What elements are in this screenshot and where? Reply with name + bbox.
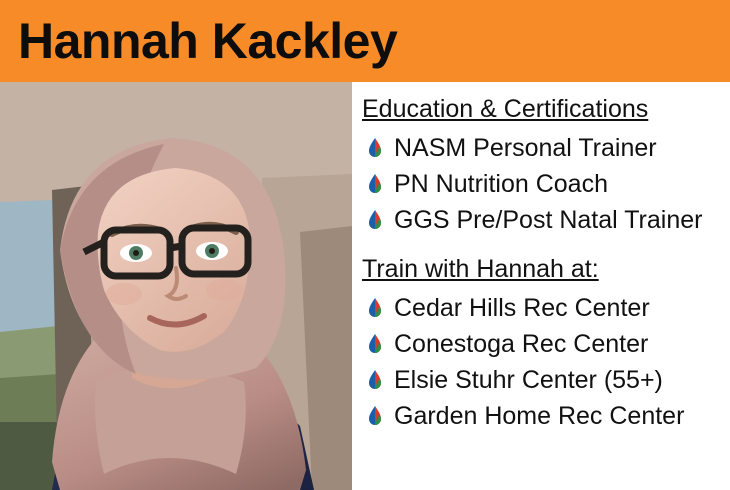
flame-leaf-icon <box>362 296 388 322</box>
flame-leaf-icon <box>362 404 388 430</box>
header-bar: Hannah Kackley <box>0 0 730 82</box>
list-item-label: Elsie Stuhr Center (55+) <box>394 365 663 395</box>
flame-leaf-icon <box>362 172 388 198</box>
list-item: GGS Pre/Post Natal Trainer <box>362 202 730 238</box>
flame-leaf-icon <box>362 368 388 394</box>
section-locations: Train with Hannah at: Cedar Hills Rec Ce… <box>362 252 730 434</box>
locations-list: Cedar Hills Rec Center Conestoga Rec Cen… <box>362 290 730 434</box>
list-item: Cedar Hills Rec Center <box>362 290 730 326</box>
list-item-label: Conestoga Rec Center <box>394 329 648 359</box>
list-item: Conestoga Rec Center <box>362 326 730 362</box>
list-item-label: PN Nutrition Coach <box>394 169 608 199</box>
section-heading-locations: Train with Hannah at: <box>362 252 730 286</box>
flyer-page: Hannah Kackley <box>0 0 730 490</box>
page-title: Hannah Kackley <box>18 6 397 76</box>
list-item-label: NASM Personal Trainer <box>394 133 657 163</box>
info-panel: Education & Certifications NASM Personal… <box>362 92 730 448</box>
portrait-photo-graphic <box>0 82 352 490</box>
flame-leaf-icon <box>362 332 388 358</box>
list-item: PN Nutrition Coach <box>362 166 730 202</box>
list-item-label: Cedar Hills Rec Center <box>394 293 650 323</box>
section-education: Education & Certifications NASM Personal… <box>362 92 730 238</box>
list-item-label: Garden Home Rec Center <box>394 401 684 431</box>
section-heading-education: Education & Certifications <box>362 92 730 126</box>
flame-leaf-icon <box>362 208 388 234</box>
list-item: NASM Personal Trainer <box>362 130 730 166</box>
list-item-label: GGS Pre/Post Natal Trainer <box>394 205 702 235</box>
flame-leaf-icon <box>362 136 388 162</box>
education-list: NASM Personal Trainer PN Nutrition Coach <box>362 130 730 238</box>
list-item: Elsie Stuhr Center (55+) <box>362 362 730 398</box>
portrait-photo <box>0 82 352 490</box>
list-item: Garden Home Rec Center <box>362 398 730 434</box>
